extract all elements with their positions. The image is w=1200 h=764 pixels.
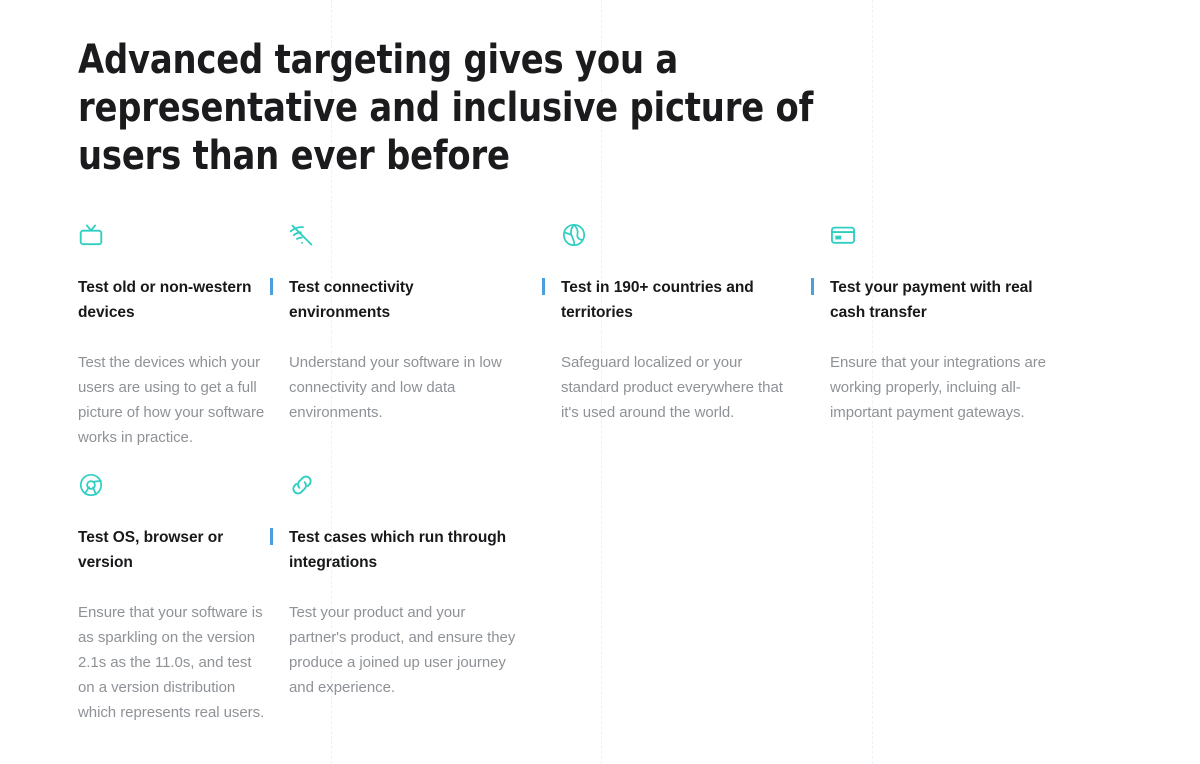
globe-icon — [561, 222, 587, 248]
feature-title-wrap: Test cases which run through integration… — [289, 525, 540, 575]
accent-bar — [270, 528, 273, 545]
feature-body: Ensure that your software is as sparklin… — [78, 600, 270, 725]
accent-bar — [270, 278, 273, 295]
feature-card-connectivity: Test connectivity environments Understan… — [270, 222, 540, 425]
feature-card-tv: Test old or non-western devices Test the… — [0, 222, 270, 450]
feature-title: Test cases which run through integration… — [289, 525, 517, 575]
browser-icon — [78, 472, 104, 498]
feature-row-1: Test old or non-western devices Test the… — [0, 222, 1200, 450]
feature-card-countries: Test in 190+ countries and territories S… — [540, 222, 811, 425]
feature-card-integrations: Test cases which run through integration… — [270, 472, 540, 700]
wifi-off-icon — [289, 222, 315, 248]
feature-grid: Test old or non-western devices Test the… — [0, 222, 1200, 725]
feature-row-2: Test OS, browser or version Ensure that … — [0, 472, 1200, 725]
feature-card-browser: Test OS, browser or version Ensure that … — [0, 472, 270, 725]
feature-title-wrap: Test OS, browser or version — [78, 525, 270, 575]
feature-title-wrap: Test old or non-western devices — [78, 275, 270, 325]
feature-title-wrap: Test your payment with real cash transfe… — [830, 275, 1139, 325]
feature-title: Test OS, browser or version — [78, 525, 270, 575]
feature-title: Test connectivity environments — [289, 275, 517, 325]
feature-card-payment: Test your payment with real cash transfe… — [811, 222, 1139, 425]
feature-title-wrap: Test connectivity environments — [289, 275, 540, 325]
feature-title: Test old or non-western devices — [78, 275, 270, 325]
page-title: Advanced targeting gives you a represent… — [78, 36, 830, 180]
feature-body: Ensure that your integrations are workin… — [830, 350, 1055, 425]
feature-title: Test in 190+ countries and territories — [561, 275, 791, 325]
accent-bar — [811, 278, 814, 295]
feature-body: Safeguard localized or your standard pro… — [561, 350, 791, 425]
credit-card-icon — [830, 222, 856, 248]
feature-title: Test your payment with real cash transfe… — [830, 275, 1055, 325]
feature-title-wrap: Test in 190+ countries and territories — [561, 275, 811, 325]
feature-section: Advanced targeting gives you a represent… — [0, 0, 1200, 764]
accent-bar — [542, 278, 545, 295]
link-icon — [289, 472, 315, 498]
feature-body: Test the devices which your users are us… — [78, 350, 270, 450]
tv-icon — [78, 222, 104, 248]
feature-body: Test your product and your partner's pro… — [289, 600, 517, 700]
feature-body: Understand your software in low connecti… — [289, 350, 517, 425]
